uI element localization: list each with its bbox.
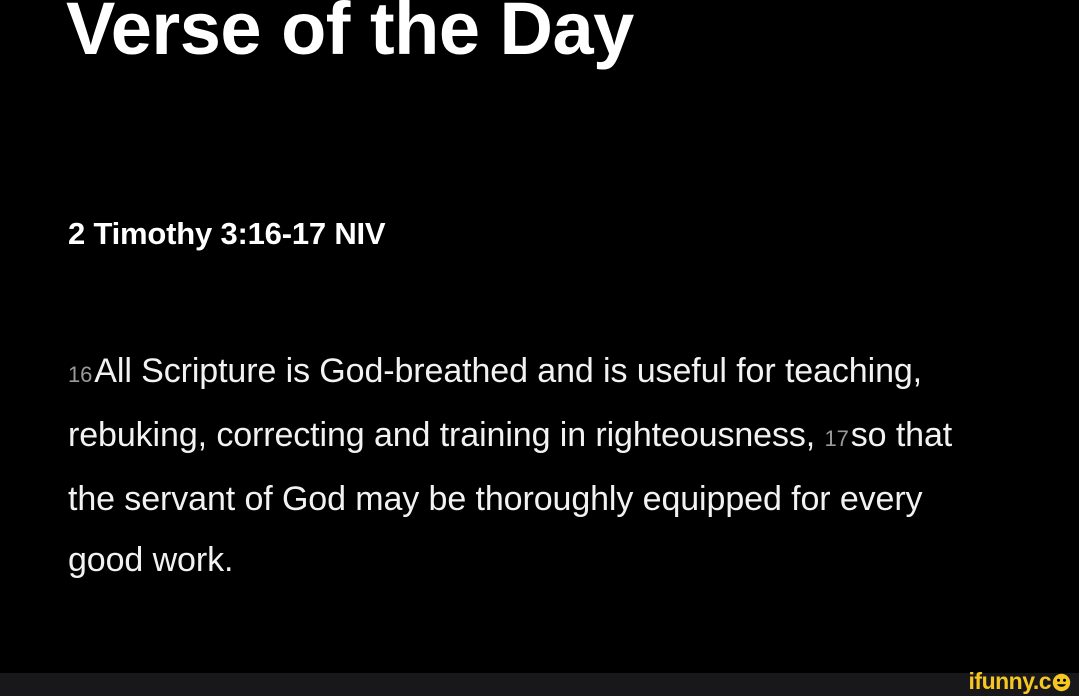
verse-text: 16All Scripture is God-breathed and is u… (68, 341, 980, 591)
ifunny-watermark: ifunny.c (969, 670, 1071, 693)
verse-number-17: 17 (824, 426, 850, 451)
watermark-label: ifunny.c (969, 670, 1051, 693)
verse-of-the-day-screen: Verse of the Day 2 Timothy 3:16-17 NIV 1… (0, 0, 1079, 696)
content-area: Verse of the Day 2 Timothy 3:16-17 NIV 1… (0, 0, 1079, 673)
scripture-reference: 2 Timothy 3:16-17 NIV (68, 214, 385, 254)
smiley-face-icon (1052, 673, 1071, 692)
verse-number-16: 16 (68, 362, 94, 387)
page-title: Verse of the Day (66, 0, 634, 78)
page-title-container: Verse of the Day (66, 0, 1056, 104)
verse-segment-16: All Scripture is God-breathed and is use… (68, 352, 922, 454)
bottom-bar (0, 673, 1079, 696)
